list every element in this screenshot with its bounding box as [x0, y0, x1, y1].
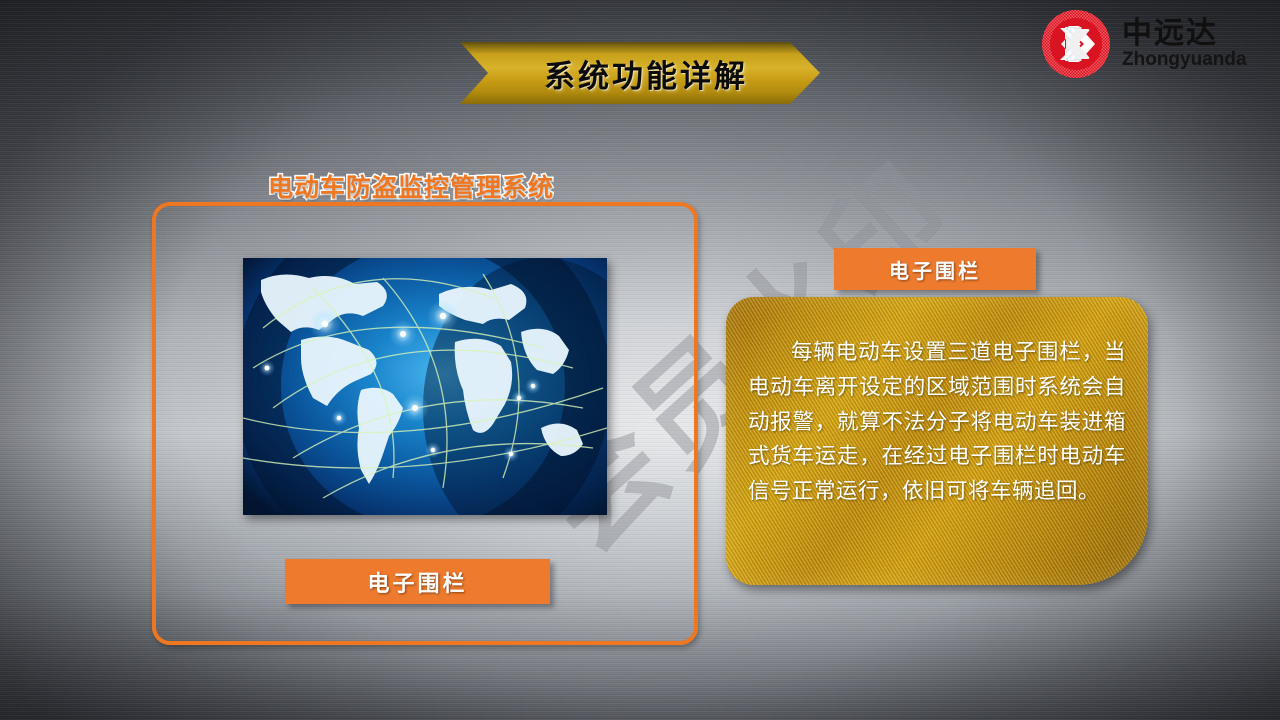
right-caption-text: 电子围栏	[889, 255, 981, 284]
company-logo: 中远达 Zhongyuanda	[1040, 6, 1268, 82]
globe-network-image	[243, 258, 607, 515]
chevron-circle-logo-icon	[1040, 8, 1112, 80]
title-banner: 系统功能详解	[460, 42, 820, 104]
subtitle: 电动车防盗监控管理系统	[268, 168, 554, 204]
description-text: 每辆电动车设置三道电子围栏，当电动车离开设定的区域范围时系统会自动报警，就算不法…	[748, 335, 1126, 509]
left-caption-text: 电子围栏	[367, 566, 467, 598]
logo-name-en: Zhongyuanda	[1122, 50, 1247, 69]
slide-canvas: 会员水印	[0, 0, 1280, 720]
description-panel: 每辆电动车设置三道电子围栏，当电动车离开设定的区域范围时系统会自动报警，就算不法…	[726, 297, 1148, 585]
logo-name-cn: 中远达	[1122, 19, 1247, 49]
page-title: 系统功能详解	[532, 51, 748, 96]
right-caption-label: 电子围栏	[834, 248, 1036, 290]
logo-wordmark: 中远达 Zhongyuanda	[1122, 19, 1247, 69]
left-caption-label: 电子围栏	[285, 559, 550, 604]
